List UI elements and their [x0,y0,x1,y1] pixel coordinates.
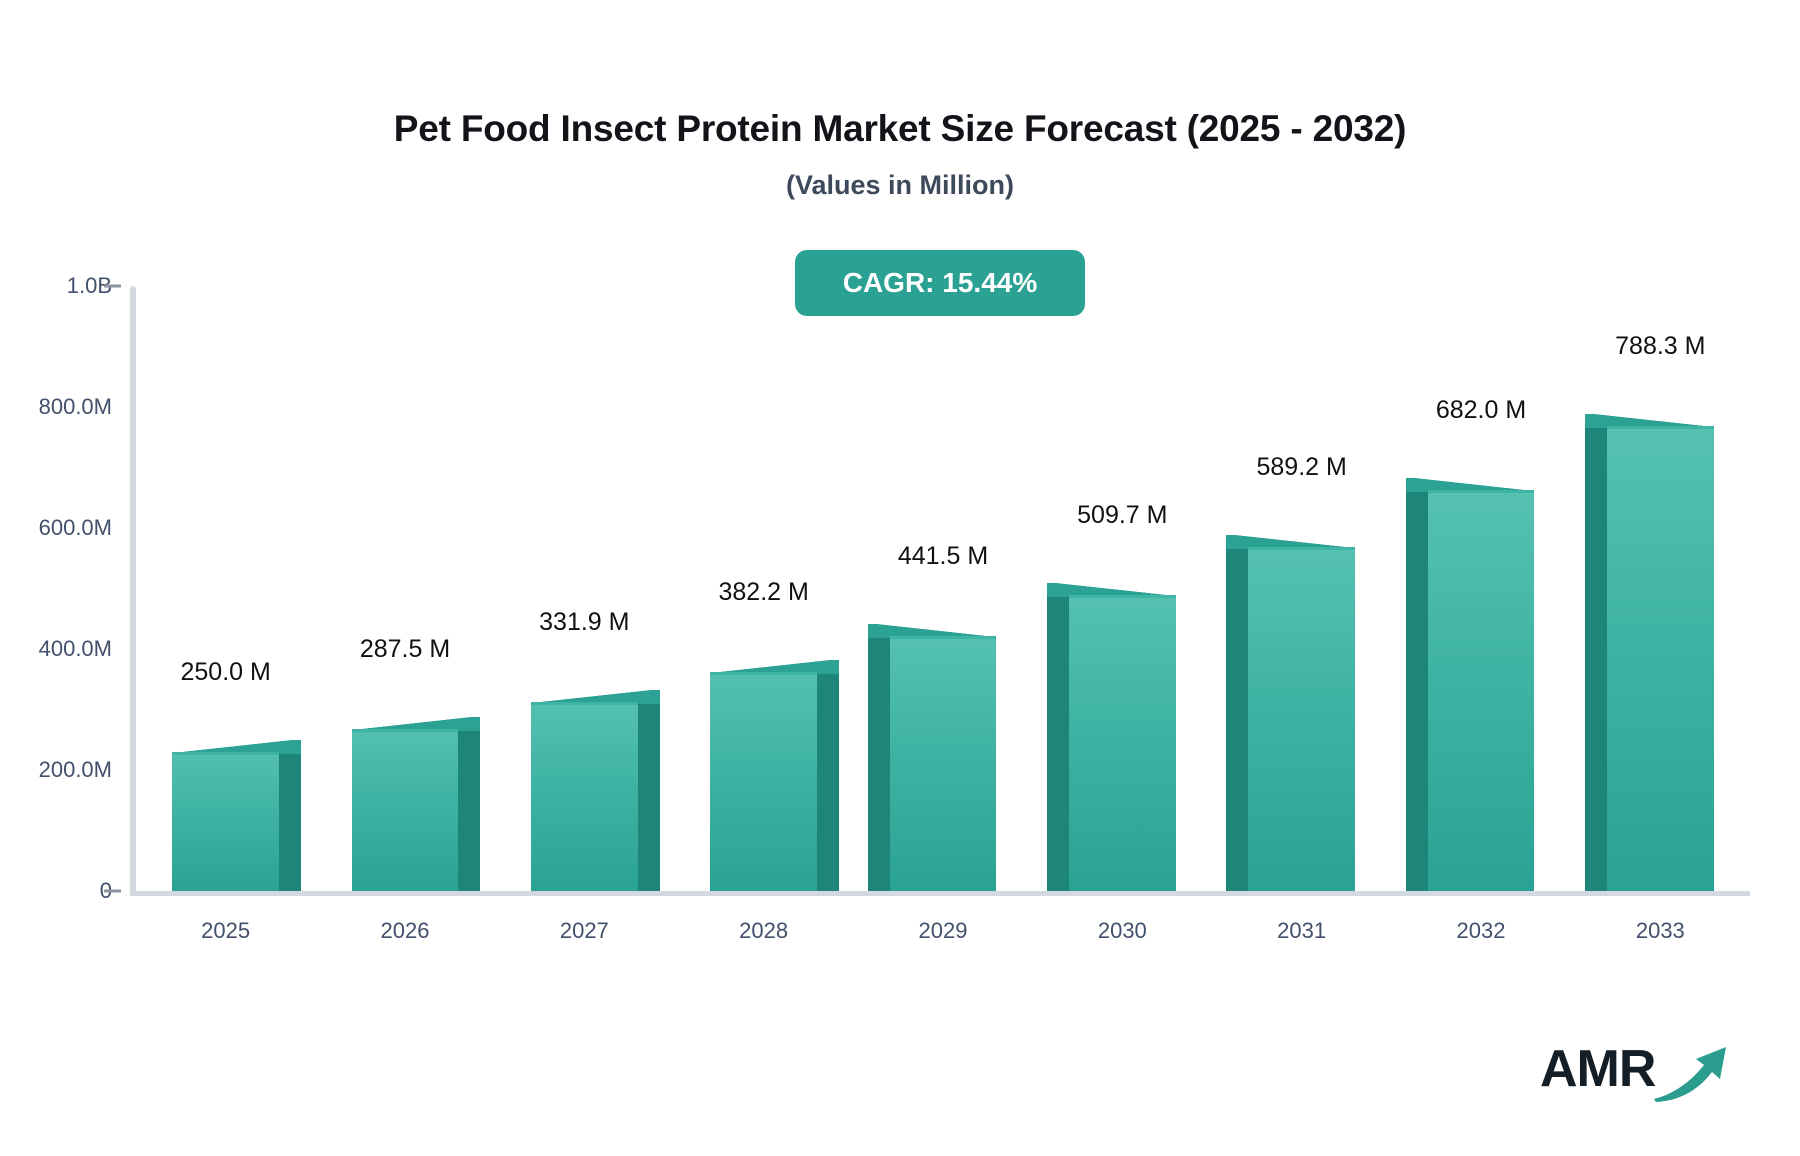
y-axis-tick-label: 400.0M [0,636,112,662]
bar-2033[interactable]: 788.3 M [1607,286,1714,891]
bar-side-face [638,704,660,891]
plot-area: 1.0B800.0M600.0M400.0M200.0M0 250.0 M287… [130,286,1750,896]
chart-canvas: Pet Food Insect Protein Market Size Fore… [0,0,1800,1156]
bar-value-label: 441.5 M [898,542,988,571]
growth-arrow-icon [1652,1041,1730,1103]
bar-front-face [531,690,638,891]
bar-top-edge [531,702,638,705]
bar-top-edge [710,672,817,675]
bar-side-face [817,674,839,891]
x-axis-label-2029: 2029 [919,918,968,944]
bar-side-face [1406,492,1428,891]
bar-top-edge [890,636,997,639]
bar-front-face [1428,478,1535,891]
x-axis-label-2027: 2027 [560,918,609,944]
bar-side-face [1585,428,1607,891]
bar-value-label: 509.7 M [1077,501,1167,530]
bar-front-face [890,624,997,891]
bar-value-label: 250.0 M [180,658,270,687]
bar-side-face [1226,549,1248,891]
bar-top-edge [352,729,459,732]
bar-2031[interactable]: 589.2 M [1248,286,1355,891]
bar-front-face [1607,414,1714,891]
bar-front-face [1069,583,1176,891]
bar-front-face [352,717,459,891]
bar-2030[interactable]: 509.7 M [1069,286,1176,891]
bar-value-label: 287.5 M [360,635,450,664]
x-axis-label-2025: 2025 [201,918,250,944]
x-axis-label-2030: 2030 [1098,918,1147,944]
x-axis-label-2026: 2026 [381,918,430,944]
bar-2026[interactable]: 287.5 M [352,286,459,891]
bar-2032[interactable]: 682.0 M [1428,286,1535,891]
bar-side-face [868,638,890,891]
y-axis-tick-label: 1.0B [0,273,112,299]
x-axis-label-2033: 2033 [1636,918,1685,944]
y-axis-tick-label: 200.0M [0,757,112,783]
x-axis-label-2028: 2028 [739,918,788,944]
x-axis-label-2032: 2032 [1457,918,1506,944]
bar-top-edge [1248,547,1355,550]
amr-logo-text: AMR [1540,1039,1655,1099]
bar-top-edge [1069,595,1176,598]
x-axis-line [130,891,1750,896]
bar-2027[interactable]: 331.9 M [531,286,638,891]
x-axis-label-2031: 2031 [1277,918,1326,944]
bar-value-label: 682.0 M [1436,396,1526,425]
y-axis-tick-mark [104,285,121,288]
y-axis-tick-label: 800.0M [0,394,112,420]
bar-value-label: 382.2 M [718,578,808,607]
bar-top-edge [172,752,279,755]
bar-top-edge [1607,426,1714,429]
bar-side-face [1047,597,1069,891]
bar-side-face [458,731,480,891]
bar-series: 250.0 M287.5 M331.9 M382.2 M441.5 M509.7… [136,286,1750,891]
y-axis-tick-label: 0 [0,878,112,904]
bar-front-face [1248,535,1355,891]
bar-front-face [710,660,817,891]
bar-2025[interactable]: 250.0 M [172,286,279,891]
y-axis-tick-mark [104,890,121,893]
bar-side-face [279,754,301,891]
bar-value-label: 589.2 M [1256,453,1346,482]
y-axis-tick-label: 600.0M [0,515,112,541]
bar-front-face [172,740,279,891]
chart-title: Pet Food Insect Protein Market Size Fore… [0,108,1800,150]
bar-2029[interactable]: 441.5 M [890,286,997,891]
bar-value-label: 788.3 M [1615,332,1705,361]
bar-value-label: 331.9 M [539,608,629,637]
amr-logo: AMR [1540,1035,1725,1110]
bar-top-edge [1428,490,1535,493]
chart-subtitle: (Values in Million) [0,170,1800,201]
bar-2028[interactable]: 382.2 M [710,286,817,891]
